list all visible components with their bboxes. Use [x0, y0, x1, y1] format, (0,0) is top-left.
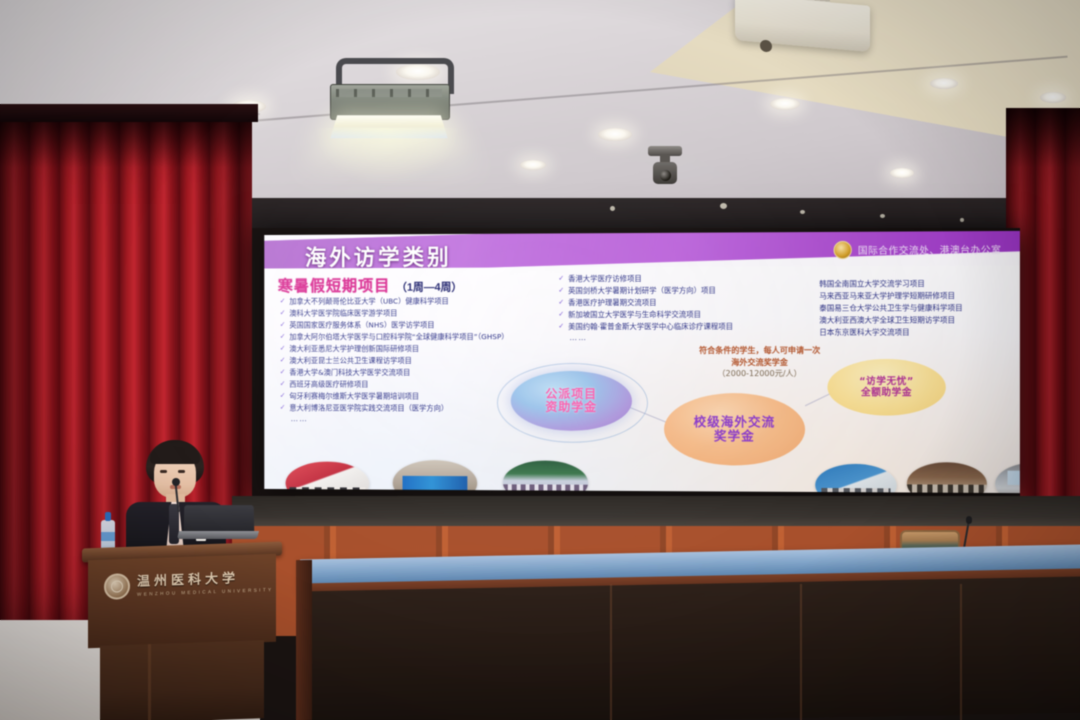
wall-light-speck: [880, 214, 885, 218]
security-camera: [648, 146, 682, 186]
recessed-downlight: [770, 98, 800, 110]
microphone-capsule: [966, 516, 972, 524]
bubble-note-amount: （2000-12000元/人）: [664, 368, 856, 380]
list-item-label: 英国国家医疗服务体系（NHS）医学访学项目: [289, 319, 434, 331]
camera-lens-icon: [660, 170, 671, 181]
presenter-fringe: [150, 446, 200, 464]
list-item-label: 新加坡国立大学医学与生命科学交流项目: [568, 309, 701, 321]
lecture-hall-scene: 海外访学类别 国际合作交流处、港澳台办公室 寒暑假短期项目 （1周—4周） ✓加…: [0, 0, 1080, 720]
check-icon: ✓: [558, 309, 564, 321]
list-item-label: 美国约翰·霍普金斯大学医学中心临床诊疗课程项目: [568, 321, 733, 333]
bullet-column-middle: ✓香港大学医疗访修项目 ✓英国剑桥大学暑期计划研学（医学方向）项目 ✓香港医疗护…: [558, 272, 809, 342]
check-icon: ✓: [558, 285, 564, 297]
stage-light-barndoor: [336, 89, 442, 97]
recessed-downlight: [930, 78, 958, 89]
list-item: ✓香港大学医疗访修项目: [558, 272, 809, 285]
check-icon: ✓: [280, 379, 286, 391]
laptop-keyboard[interactable]: [177, 531, 259, 539]
list-item-label: 日本东京医科大学交流项目: [819, 327, 909, 339]
list-item-label: 香港大学&澳门科技大学医学交流项目: [289, 367, 410, 379]
recessed-downlight: [598, 128, 632, 141]
slide-photo-audience-hall: [907, 462, 987, 493]
department-name: 国际合作交流处、港澳台办公室: [858, 242, 1001, 257]
bubble-line-1: “访学无忧”: [859, 376, 914, 388]
recessed-downlight: [520, 160, 546, 170]
slide-subheading: 寒暑假短期项目 （1周—4周）: [278, 274, 462, 296]
bubble-public-funded: 公派项目 资助学金: [511, 371, 632, 431]
projection-screen: 海外访学类别 国际合作交流处、港澳台办公室 寒暑假短期项目 （1周—4周） ✓加…: [264, 231, 1020, 493]
list-item: 澳大利亚西澳大学全球卫生短期访学项目: [819, 314, 1013, 326]
bubble-school-exchange: 校级海外交流 奖学金: [664, 393, 805, 466]
slide-photo-large-group: [503, 460, 588, 493]
check-icon: ✓: [280, 308, 286, 320]
bottle-label: [101, 532, 115, 541]
table-panel-seam: [800, 584, 802, 720]
presenter-laptop[interactable]: [178, 505, 254, 541]
bubble-line-2: 奖学金: [714, 429, 755, 443]
wall-light-speck: [610, 206, 615, 211]
list-item-ellipsis: ……: [558, 333, 809, 342]
bubble-line-2: 全额助学金: [861, 387, 912, 399]
university-emblem-icon: [833, 241, 851, 259]
check-icon: ✓: [280, 367, 286, 379]
subheading-main: 寒暑假短期项目: [278, 274, 390, 296]
list-item: 日本东京医科大学交流项目: [819, 326, 1013, 338]
slide-photo-group-banner: [286, 461, 370, 493]
bubble-line-2: 资助学金: [545, 401, 597, 415]
list-item-label: 韩国全南国立大学交流学习项目: [819, 278, 925, 290]
podium-front-panel: [88, 554, 276, 649]
presenter-microphone-head: [172, 478, 180, 486]
projector-foot: [760, 39, 772, 52]
department-logo: 国际合作交流处、港澳台办公室: [833, 240, 1001, 259]
wall-light-speck: [800, 210, 805, 214]
check-icon: ✓: [558, 321, 564, 333]
list-item-label: 英国剑桥大学暑期计划研学（医学方向）项目: [568, 285, 716, 297]
podium: 温州医科大学 WENZHOU MEDICAL UNIVERSITY: [86, 545, 278, 720]
bubble-note-line-1: 符合条件的学生，每人可申请一次: [664, 345, 856, 357]
list-item: ✓英国剑桥大学暑期计划研学（医学方向）项目: [558, 284, 809, 297]
university-seal-icon: [104, 573, 130, 600]
list-item-label: 加拿大不列颠哥伦比亚大学（UBC）健康科学项目: [289, 296, 449, 308]
presenter-eye-right: [178, 470, 185, 473]
list-item: ✓澳大利亚悉尼大学护理创新国际研修项目: [280, 343, 543, 355]
curtain-rail: [0, 104, 258, 122]
conference-table-left-cap: [296, 560, 312, 720]
wall-light-speck: [720, 203, 727, 209]
bubble-note: 符合条件的学生，每人可申请一次 海外交流奖学金 （2000-12000元/人）: [664, 345, 856, 380]
list-item-label: 马来西亚马来亚大学护理学短期研修项目: [819, 290, 955, 302]
list-item-label: 泰国易三仓大学公共卫生学与健康科学项目: [819, 302, 962, 314]
list-item: 马来西亚马来亚大学护理学短期研修项目: [819, 290, 1013, 303]
list-item: ✓加拿大阿尔伯塔大学医学与口腔科学院“全球健康科学项目”（GHSP）: [280, 331, 543, 343]
list-item: ✓香港医疗护理暑期交流项目: [558, 296, 809, 309]
list-item-label: 澳大利亚昆士兰公共卫生课程访学项目: [289, 355, 412, 367]
bubble-note-line-2: 海外交流奖学金: [664, 357, 856, 369]
curtain-right-shadow: [1006, 108, 1080, 168]
wall-light-speck: [960, 218, 964, 222]
list-item-label: 澳科大学医学院临床医学游学项目: [289, 308, 397, 320]
list-item: 泰国易三仓大学公共卫生学与健康科学项目: [819, 302, 1013, 315]
check-icon: ✓: [280, 343, 286, 355]
podium-base: [100, 640, 264, 720]
list-item: ✓英国国家医疗服务体系（NHS）医学访学项目: [280, 319, 543, 331]
list-item-label: 西班牙高级医疗研修项目: [289, 379, 368, 391]
bottle-cap: [105, 512, 111, 521]
subheading-note: （1周—4周）: [396, 279, 462, 295]
check-icon: ✓: [280, 320, 286, 332]
list-item: ✓澳科大学医学院临床医学游学项目: [280, 307, 543, 319]
presenter-eye-left: [160, 470, 167, 473]
list-item: ✓美国约翰·霍普金斯大学医学中心临床诊疗课程项目: [558, 321, 809, 333]
bubble-line-1: 校级海外交流: [694, 415, 776, 429]
check-icon: ✓: [280, 402, 286, 414]
bullet-column-right: 韩国全南国立大学交流学习项目 马来西亚马来亚大学护理学短期研修项目 泰国易三仓大…: [819, 278, 1013, 339]
slide-photo-lecture-room: [393, 460, 477, 493]
slide-photo-seminar-table: [815, 464, 896, 493]
slide-body: 寒暑假短期项目 （1周—4周） ✓加拿大不列颠哥伦比亚大学（UBC）健康科学项目…: [264, 265, 1020, 493]
slide-photo-conference-screen: [995, 463, 1020, 494]
list-item-label: 澳大利亚悉尼大学护理创新国际研修项目: [289, 343, 419, 355]
check-icon: ✓: [280, 296, 286, 308]
list-item-label: 澳大利亚西澳大学全球卫生短期访学项目: [819, 314, 955, 326]
list-item: ✓澳大利亚昆士兰公共卫生课程访学项目: [280, 355, 543, 367]
check-icon: ✓: [280, 355, 286, 367]
stage-light-glow: [312, 128, 462, 188]
stage-flood-light: [330, 58, 448, 130]
check-icon: ✓: [558, 273, 564, 285]
list-item-label: 意大利博洛尼亚医学院实践交流项目（医学方向）: [289, 402, 448, 414]
list-item-label: 匈牙利赛梅尔维斯大学医学暑期培训项目: [289, 390, 419, 402]
list-item-label: 加拿大阿尔伯塔大学医学与口腔科学院“全球健康科学项目”（GHSP）: [289, 331, 508, 343]
list-item-label: 香港大学医疗访修项目: [568, 273, 642, 285]
list-item-label: 香港医疗护理暑期交流项目: [568, 297, 656, 309]
recessed-downlight: [1040, 92, 1066, 103]
check-icon: ✓: [558, 297, 564, 309]
university-name-cn: 温州医科大学: [137, 571, 274, 589]
laptop-screen: [184, 505, 255, 533]
table-panel-seam: [610, 584, 612, 720]
list-item: ✓新加坡国立大学医学与生命科学交流项目: [558, 309, 809, 322]
check-icon: ✓: [280, 390, 286, 402]
conference-table-front: [300, 577, 1080, 720]
list-item: ✓香港大学&澳门科技大学医学交流项目: [280, 367, 543, 379]
recessed-downlight: [890, 168, 914, 178]
table-panel-seam: [960, 584, 962, 720]
list-item: 韩国全南国立大学交流学习项目: [819, 278, 1013, 291]
check-icon: ✓: [280, 331, 286, 343]
list-item: ✓加拿大不列颠哥伦比亚大学（UBC）健康科学项目: [280, 295, 543, 308]
